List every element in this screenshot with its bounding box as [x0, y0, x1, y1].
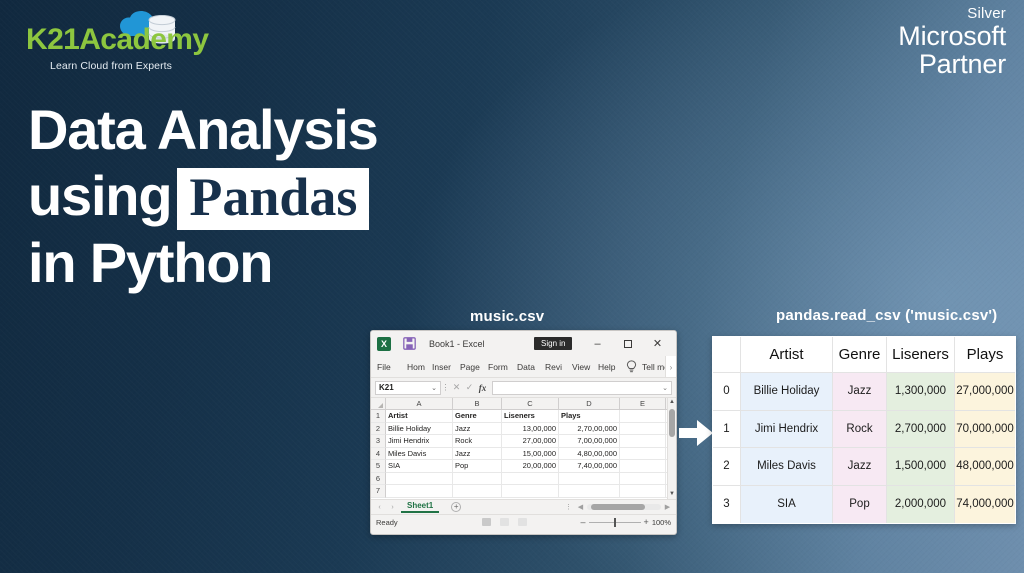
cell-e1[interactable] [620, 410, 666, 423]
row-header-6[interactable]: 6 [371, 473, 386, 486]
horizontal-scrollbar-thumb[interactable] [591, 504, 644, 510]
cell-c3[interactable]: 27,00,000 [502, 435, 559, 448]
cell-artist: Billie Holiday [741, 373, 833, 411]
cell-b1[interactable]: Genre [453, 410, 502, 423]
header-index [713, 337, 741, 373]
vertical-scrollbar[interactable]: ▲ ▼ [667, 398, 676, 499]
cell-e6[interactable] [620, 473, 666, 486]
table-row: 3 SIA Pop 2,000,000 74,000,000 [713, 486, 1015, 524]
excel-ribbon-tabs: File Hom Inser Page Form Data Revi View … [371, 356, 676, 378]
maximize-icon [624, 340, 632, 348]
cell-d7[interactable] [559, 485, 620, 498]
cell-b7[interactable] [453, 485, 502, 498]
k21academy-logo: K21Academy Learn Cloud from Experts [26, 9, 226, 73]
cell-genre: Jazz [833, 448, 887, 486]
table-row[interactable]: 7 [371, 485, 667, 498]
cell-d5[interactable]: 7,40,00,000 [559, 460, 620, 473]
excel-grid[interactable]: A B C D E F 1 Artist Genre Liseners Play… [371, 398, 676, 499]
column-header-a[interactable]: A [386, 398, 453, 410]
cell-c2[interactable]: 13,00,000 [502, 423, 559, 436]
cell-b6[interactable] [453, 473, 502, 486]
ribbon-tab-formulas[interactable]: Form [488, 362, 517, 372]
cell-b2[interactable]: Jazz [453, 423, 502, 436]
header-liseners: Liseners [887, 337, 955, 373]
normal-view-icon[interactable] [482, 518, 491, 526]
table-header-row: Artist Genre Liseners Plays [713, 337, 1015, 373]
save-icon[interactable] [403, 337, 416, 350]
cell-plays: 74,000,000 [955, 486, 1015, 524]
row-header-2[interactable]: 2 [371, 423, 386, 436]
partner-company: Microsoft [898, 22, 1006, 50]
cell-d4[interactable]: 4,80,00,000 [559, 448, 620, 461]
cell-b5[interactable]: Pop [453, 460, 502, 473]
column-header-d[interactable]: D [559, 398, 620, 410]
table-row: 2 Miles Davis Jazz 1,500,000 48,000,000 [713, 448, 1015, 486]
table-row: 0 Billie Holiday Jazz 1,300,000 27,000,0… [713, 373, 1015, 411]
table-row[interactable]: 1 Artist Genre Liseners Plays [371, 410, 667, 423]
column-header-b[interactable]: B [453, 398, 502, 410]
table-row[interactable]: 3 Jimi Hendrix Rock 27,00,000 7,00,00,00… [371, 435, 667, 448]
cell-a5[interactable]: SIA [386, 460, 453, 473]
sheet-nav-prev-icon[interactable]: ‹ [375, 504, 384, 511]
maximize-button[interactable] [619, 335, 636, 352]
cell-c7[interactable] [502, 485, 559, 498]
partner-level: Silver [898, 6, 1006, 22]
horizontal-scrollbar-track[interactable] [587, 504, 661, 510]
cell-e4[interactable] [620, 448, 666, 461]
page-title: Data Analysis usingPandas in Python [28, 97, 548, 296]
cell-a3[interactable]: Jimi Hendrix [386, 435, 453, 448]
cell-genre: Pop [833, 486, 887, 524]
zoom-slider[interactable] [589, 522, 641, 523]
cell-e7[interactable] [620, 485, 666, 498]
cell-plays: 48,000,000 [955, 448, 1015, 486]
insert-function-icon[interactable]: fx [476, 383, 489, 393]
table-row: 1 Jimi Hendrix Rock 2,700,000 70,000,000 [713, 411, 1015, 449]
select-all-corner[interactable] [371, 398, 386, 410]
ribbon-tab-review[interactable]: Revi [545, 362, 572, 372]
sheet-tab-sheet1[interactable]: Sheet1 [401, 501, 439, 513]
excel-grid-cells[interactable]: A B C D E F 1 Artist Genre Liseners Play… [371, 398, 667, 499]
cell-genre: Rock [833, 411, 887, 449]
cell-d2[interactable]: 2,70,00,000 [559, 423, 620, 436]
excel-document-title: Book1 - Excel [429, 339, 485, 349]
minimize-button[interactable]: – [589, 335, 606, 352]
ribbon-overflow-button[interactable]: › [665, 356, 676, 378]
name-box[interactable]: K21 ⌄ [375, 381, 441, 395]
zoom-out-button[interactable]: – [581, 517, 586, 527]
right-arrow-icon [679, 418, 713, 448]
excel-window[interactable]: X Book1 - Excel Sign in – ✕ File Hom Ins… [370, 330, 677, 535]
row-header-4[interactable]: 4 [371, 448, 386, 461]
excel-sheet-bar: ‹ › Sheet1 + ⋮ ◀ ▶ [371, 499, 676, 514]
cell-liseners: 1,300,000 [887, 373, 955, 411]
cell-genre: Jazz [833, 373, 887, 411]
header-artist: Artist [741, 337, 833, 373]
horizontal-scrollbar[interactable]: ◀ ▶ [576, 503, 672, 511]
ribbon-tab-data[interactable]: Data [517, 362, 545, 372]
ribbon-tab-file[interactable]: File [377, 362, 401, 372]
microsoft-partner-badge: Silver Microsoft Partner [898, 6, 1006, 78]
cell-plays: 27,000,000 [955, 373, 1015, 411]
headline-line-2: usingPandas [28, 163, 548, 230]
cell-e3[interactable] [620, 435, 666, 448]
view-mode-buttons [482, 518, 527, 526]
row-header-3[interactable]: 3 [371, 435, 386, 448]
sheet-bar-dots-icon: ⋮ [565, 503, 572, 511]
formula-input[interactable]: ⌄ [492, 381, 672, 395]
page-break-view-icon[interactable] [518, 518, 527, 526]
close-button[interactable]: ✕ [649, 335, 666, 352]
scroll-up-icon[interactable]: ▲ [669, 398, 675, 407]
formula-bar-dots-icon: ⋮ [441, 383, 450, 392]
cell-a7[interactable] [386, 485, 453, 498]
page-layout-view-icon[interactable] [500, 518, 509, 526]
partner-program: Partner [898, 50, 1006, 78]
cell-a1[interactable]: Artist [386, 410, 453, 423]
row-header-5[interactable]: 5 [371, 460, 386, 473]
logo-tagline: Learn Cloud from Experts [50, 60, 172, 72]
ribbon-tab-view[interactable]: View [572, 362, 598, 372]
ribbon-tab-home[interactable]: Hom [401, 362, 432, 372]
cell-c5[interactable]: 20,00,000 [502, 460, 559, 473]
vertical-scrollbar-thumb[interactable] [669, 409, 675, 437]
header-plays: Plays [955, 337, 1015, 373]
name-box-value: K21 [379, 383, 394, 392]
excel-app-icon: X [377, 337, 391, 351]
formula-expand-chevron-icon[interactable]: ⌄ [662, 384, 668, 392]
excel-title-bar: X Book1 - Excel Sign in – ✕ [371, 331, 676, 356]
cell-liseners: 2,700,000 [887, 411, 955, 449]
pandas-dataframe-table: Artist Genre Liseners Plays 0 Billie Hol… [712, 336, 1016, 524]
table-row[interactable]: 5 SIA Pop 20,00,000 7,40,00,000 [371, 460, 667, 473]
sheet-nav-next-icon[interactable]: › [388, 504, 397, 511]
row-header-7[interactable]: 7 [371, 485, 386, 498]
cell-b4[interactable]: Jazz [453, 448, 502, 461]
zoom-in-button[interactable]: + [644, 517, 649, 527]
status-text: Ready [376, 518, 398, 527]
table-row[interactable]: 4 Miles Davis Jazz 15,00,000 4,80,00,000 [371, 448, 667, 461]
headline-highlight-pandas: Pandas [177, 168, 369, 230]
hscroll-right-icon[interactable]: ▶ [663, 503, 672, 511]
scroll-down-icon[interactable]: ▼ [669, 490, 675, 499]
row-index: 0 [713, 373, 741, 411]
lightbulb-icon[interactable] [626, 360, 637, 373]
logo-wordmark: K21Academy [26, 25, 208, 55]
ribbon-tab-insert[interactable]: Inser [432, 362, 460, 372]
cell-d1[interactable]: Plays [559, 410, 620, 423]
cell-d3[interactable]: 7,00,00,000 [559, 435, 620, 448]
column-header-c[interactable]: C [502, 398, 559, 410]
excel-formula-bar: K21 ⌄ ⋮ ✕ ✓ fx ⌄ [371, 378, 676, 398]
cell-c4[interactable]: 15,00,000 [502, 448, 559, 461]
zoom-slider-thumb[interactable] [614, 518, 616, 527]
header-genre: Genre [833, 337, 887, 373]
cell-artist: SIA [741, 486, 833, 524]
column-headers: A B C D E F [371, 398, 667, 410]
excel-status-bar: Ready – + 100% [371, 514, 676, 529]
cell-e5[interactable] [620, 460, 666, 473]
hscroll-left-icon[interactable]: ◀ [576, 503, 585, 511]
caption-music-csv: music.csv [470, 308, 544, 325]
cell-c1[interactable]: Liseners [502, 410, 559, 423]
chevron-down-icon[interactable]: ⌄ [431, 384, 437, 392]
sign-in-button[interactable]: Sign in [534, 337, 572, 350]
cell-artist: Miles Davis [741, 448, 833, 486]
add-sheet-button[interactable]: + [451, 502, 461, 512]
column-header-e[interactable]: E [620, 398, 666, 410]
zoom-level-label[interactable]: 100% [652, 518, 671, 527]
caption-pandas-read-csv: pandas.read_csv ('music.csv') [776, 307, 997, 324]
zoom-control[interactable]: – + 100% [581, 517, 671, 527]
table-row[interactable]: 6 [371, 473, 667, 486]
cell-e2[interactable] [620, 423, 666, 436]
cell-b3[interactable]: Rock [453, 435, 502, 448]
headline-line-2-prefix: using [28, 164, 171, 227]
ribbon-tab-help[interactable]: Help [598, 362, 622, 372]
confirm-formula-icon[interactable]: ✓ [463, 382, 476, 393]
cell-plays: 70,000,000 [955, 411, 1015, 449]
headline-line-1: Data Analysis [28, 97, 548, 163]
cell-a6[interactable] [386, 473, 453, 486]
table-row[interactable]: 2 Billie Holiday Jazz 13,00,000 2,70,00,… [371, 423, 667, 436]
cancel-formula-icon[interactable]: ✕ [450, 382, 463, 393]
cell-d6[interactable] [559, 473, 620, 486]
cell-c6[interactable] [502, 473, 559, 486]
cell-a4[interactable]: Miles Davis [386, 448, 453, 461]
ribbon-tab-page-layout[interactable]: Page [460, 362, 488, 372]
row-index: 3 [713, 486, 741, 524]
cell-a2[interactable]: Billie Holiday [386, 423, 453, 436]
cell-liseners: 1,500,000 [887, 448, 955, 486]
row-index: 1 [713, 411, 741, 449]
cell-artist: Jimi Hendrix [741, 411, 833, 449]
headline-line-3: in Python [28, 230, 548, 296]
cell-liseners: 2,000,000 [887, 486, 955, 524]
row-header-1[interactable]: 1 [371, 410, 386, 423]
row-index: 2 [713, 448, 741, 486]
